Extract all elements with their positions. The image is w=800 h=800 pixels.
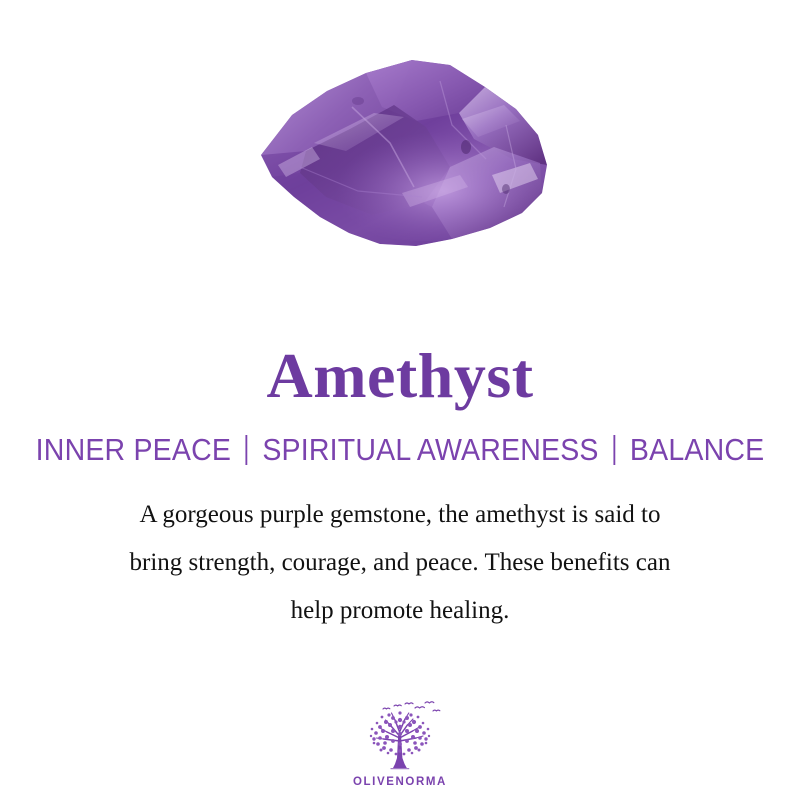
keyword-separator-1 [246,435,248,465]
tree-of-life-icon [357,698,443,774]
amethyst-info-card: Amethyst INNER PEACE SPIRITUAL AWARENESS… [0,0,800,800]
description-line-2: bring strength, courage, and peace. Thes… [50,539,750,587]
birds-icon [383,702,440,711]
keyword-spiritual-awareness: SPIRITUAL AWARENESS [262,434,598,465]
gemstone-image [254,47,554,259]
amethyst-crystal-icon [254,47,554,259]
description-line-3: help promote healing. [50,587,750,635]
keyword-list: INNER PEACE SPIRITUAL AWARENESS BALANCE [36,434,765,465]
keyword-balance: BALANCE [630,434,764,465]
keyword-inner-peace: INNER PEACE [36,434,231,465]
hero-section [0,0,800,300]
description-line-1: A gorgeous purple gemstone, the amethyst… [50,491,750,539]
description-text: A gorgeous purple gemstone, the amethyst… [50,491,750,635]
brand-wordmark: OLIVENORMA [353,776,447,788]
brand-logo: OLIVENORMA [0,698,800,788]
keyword-separator-2 [613,435,615,465]
page-title: Amethyst [266,344,533,408]
